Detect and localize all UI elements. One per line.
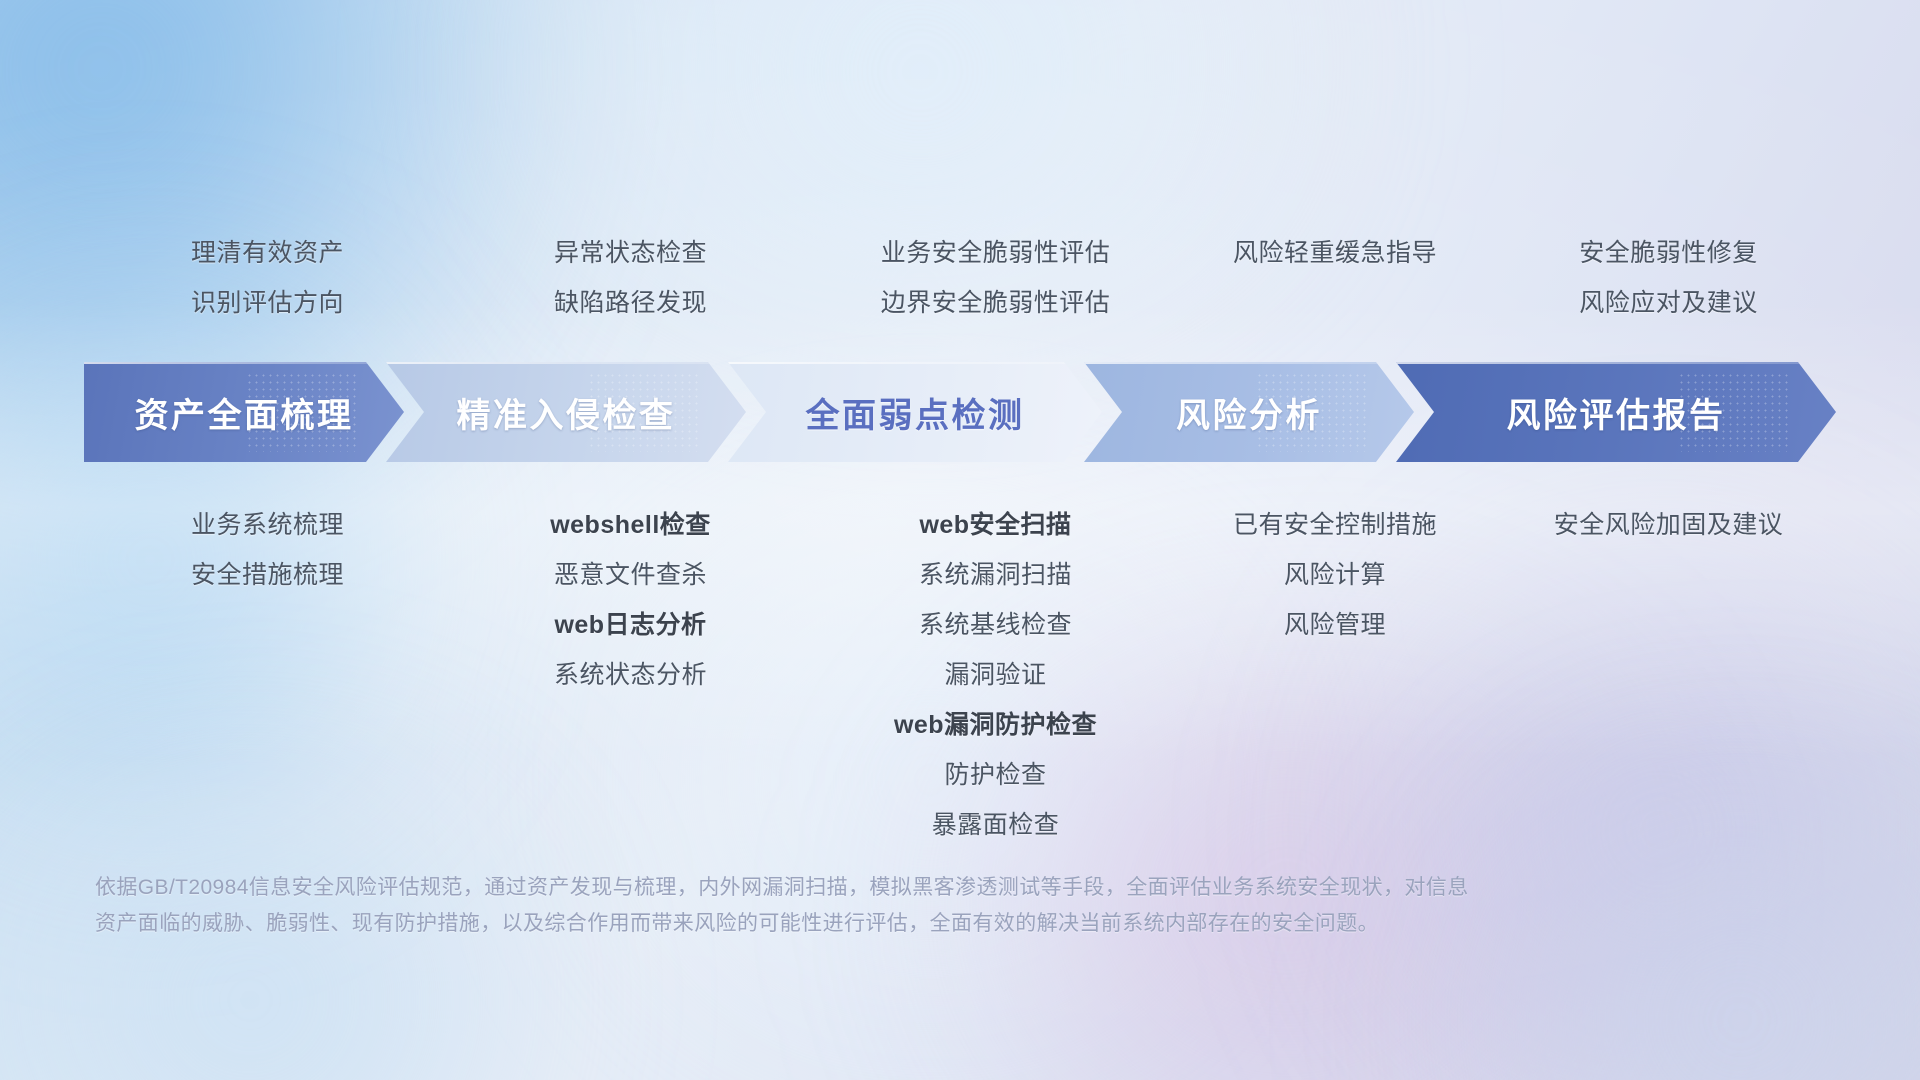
bottom-notes-stage-4: 已有安全控制措施 风险计算 风险管理 (1177, 500, 1477, 850)
process-stage-arrow-3[interactable]: 全面弱点检测 (728, 362, 1102, 462)
slide-canvas: 理清有效资产 识别评估方向 异常状态检查 缺陷路径发现 业务安全脆弱性评估 边界… (0, 0, 1920, 1080)
bottom-note: 已有安全控制措施 (1233, 500, 1437, 550)
footer-line-2: 资产面临的威胁、脆弱性、现有防护措施，以及综合作用而带来风险的可能性进行评估，全… (95, 906, 1735, 942)
process-stage-arrow-5[interactable]: 风险评估报告 (1396, 362, 1836, 462)
diagram-content: 理清有效资产 识别评估方向 异常状态检查 缺陷路径发现 业务安全脆弱性评估 边界… (0, 0, 1920, 1080)
bottom-note: 风险管理 (1284, 600, 1386, 650)
bottom-notes-stage-5: 安全风险加固及建议 (1477, 500, 1832, 850)
bottom-notes-stage-3: web安全扫描 系统漏洞扫描 系统基线检查 漏洞验证 web漏洞防护检查 防护检… (814, 500, 1177, 850)
bottom-note: 暴露面检查 (932, 800, 1060, 850)
top-note: 边界安全脆弱性评估 (881, 278, 1111, 328)
top-notes-row: 理清有效资产 识别评估方向 异常状态检查 缺陷路径发现 业务安全脆弱性评估 边界… (88, 228, 1832, 328)
bottom-note: web漏洞防护检查 (894, 700, 1097, 750)
top-note: 异常状态检查 (554, 228, 707, 278)
bottom-note: 安全措施梳理 (191, 550, 344, 600)
top-note: 理清有效资产 (191, 228, 344, 278)
process-stage-arrow-1[interactable]: 资产全面梳理 (84, 362, 404, 462)
stage-label-2: 精准入侵检查 (457, 388, 676, 437)
footer-line-1: 依据GB/T20984信息安全风险评估规范，通过资产发现与梳理，内外网漏洞扫描，… (95, 870, 1735, 906)
stage-label-5: 风险评估报告 (1507, 388, 1726, 437)
top-notes-stage-1: 理清有效资产 识别评估方向 (88, 228, 451, 328)
bottom-note: 漏洞验证 (944, 650, 1046, 700)
stage-label-4: 风险分析 (1176, 388, 1322, 437)
top-notes-stage-4: 风险轻重缓急指导 (1177, 228, 1477, 328)
top-note: 识别评估方向 (191, 278, 344, 328)
footer-description: 依据GB/T20984信息安全风险评估规范，通过资产发现与梳理，内外网漏洞扫描，… (95, 870, 1735, 942)
arrow-highlight-line (386, 362, 746, 364)
bottom-note: 系统漏洞扫描 (919, 550, 1072, 600)
bottom-notes-row: 业务系统梳理 安全措施梳理 webshell检查 恶意文件查杀 web日志分析 … (88, 500, 1832, 850)
top-note: 风险轻重缓急指导 (1233, 228, 1437, 278)
process-arrow-band: 资产全面梳理 精准入侵检查 全面弱点检测 风险分析 风险评估报告 (84, 362, 1836, 462)
bottom-notes-stage-2: webshell检查 恶意文件查杀 web日志分析 系统状态分析 (451, 500, 814, 850)
bottom-notes-stage-1: 业务系统梳理 安全措施梳理 (88, 500, 451, 850)
arrow-highlight-line (1396, 362, 1836, 364)
stage-label-1: 资产全面梳理 (135, 388, 354, 437)
bottom-note: 安全风险加固及建议 (1554, 500, 1784, 550)
bottom-note: 防护检查 (944, 750, 1046, 800)
top-note: 安全脆弱性修复 (1579, 228, 1758, 278)
top-notes-stage-2: 异常状态检查 缺陷路径发现 (451, 228, 814, 328)
bottom-note: 恶意文件查杀 (554, 550, 707, 600)
bottom-note: web安全扫描 (919, 500, 1071, 550)
bottom-note: 风险计算 (1284, 550, 1386, 600)
bottom-note: 业务系统梳理 (191, 500, 344, 550)
top-note: 业务安全脆弱性评估 (881, 228, 1111, 278)
top-note: 风险应对及建议 (1579, 278, 1758, 328)
process-stage-arrow-2[interactable]: 精准入侵检查 (386, 362, 746, 462)
arrow-highlight-line (728, 362, 1102, 364)
top-notes-stage-5: 安全脆弱性修复 风险应对及建议 (1477, 228, 1832, 328)
bottom-note: webshell检查 (550, 500, 711, 550)
top-note: 缺陷路径发现 (554, 278, 707, 328)
top-notes-stage-3: 业务安全脆弱性评估 边界安全脆弱性评估 (814, 228, 1177, 328)
bottom-note: web日志分析 (554, 600, 706, 650)
stage-label-3: 全面弱点检测 (806, 388, 1025, 437)
arrow-highlight-line (84, 362, 404, 364)
process-stage-arrow-4[interactable]: 风险分析 (1084, 362, 1414, 462)
bottom-note: 系统基线检查 (919, 600, 1072, 650)
arrow-highlight-line (1084, 362, 1414, 364)
bottom-note: 系统状态分析 (554, 650, 707, 700)
